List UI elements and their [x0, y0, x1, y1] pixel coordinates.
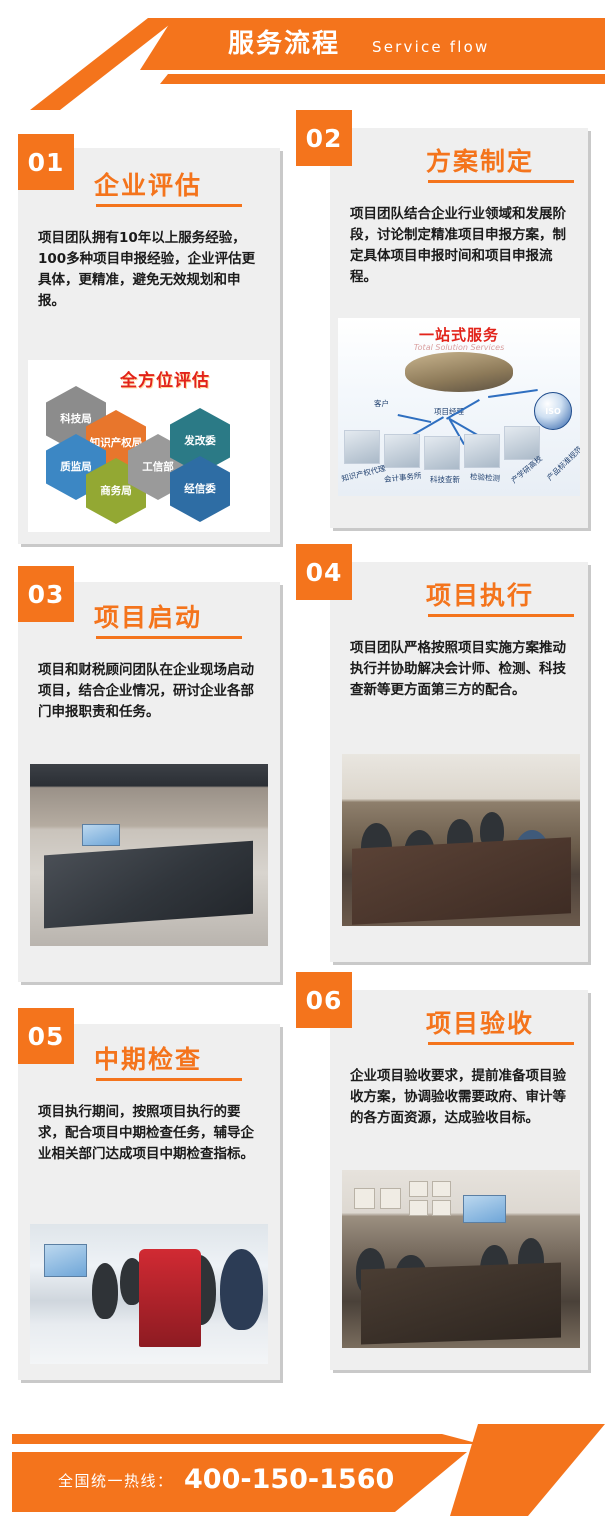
photo-working-meeting [342, 754, 580, 926]
step-visual-04 [342, 754, 580, 926]
step-body-02: 项目团队结合企业行业领域和发展阶段，讨论制定精准项目申报方案，制定具体项目申报时… [350, 204, 572, 288]
step-body-01: 项目团队拥有10年以上服务经验，100多种项目申报经验，企业评估更具体，更精准，… [38, 228, 262, 312]
page-footer: 全国统一热线： 400-150-1560 [0, 1424, 605, 1538]
step-body-04: 项目团队严格按照项目实施方案推动执行并协助解决会计师、检测、科技查新等更方面第三… [350, 638, 572, 701]
step-card-04[interactable]: 04 项目执行 项目团队严格按照项目实施方案推动执行并协助解决会计师、检测、科技… [330, 562, 588, 962]
title-underline [428, 614, 574, 617]
step-title-04: 项目执行 [426, 576, 534, 612]
step-badge-01: 01 [18, 134, 74, 190]
flow-diagram-subtitle: Total Solution Services [414, 343, 504, 352]
flow-label-accounting: 会计事务所 [384, 470, 422, 485]
page-subtitle: Service flow [372, 36, 490, 58]
step-body-03: 项目和财税顾问团队在企业现场启动项目，结合企业情况，研讨企业各部门申报职责和任务… [38, 660, 262, 723]
step-title-06: 项目验收 [426, 1004, 534, 1040]
hotline-label: 全国统一热线： [58, 1470, 174, 1491]
photo-acceptance-meeting [342, 1170, 580, 1348]
page-title: 服务流程 [228, 27, 340, 61]
flow-label-tech-search: 科技查新 [430, 474, 460, 485]
flow-hub-photo [405, 352, 513, 392]
one-stop-service-diagram: 一站式服务 Total Solution Services 客户 项目经理 IS… [338, 318, 580, 496]
step-card-01[interactable]: 01 企业评估 项目团队拥有10年以上服务经验，100多种项目申报经验，企业评估… [18, 148, 280, 544]
step-card-06[interactable]: 06 项目验收 企业项目验收要求，提前准备项目验收方案，协调验收需要政府、审计等… [330, 990, 588, 1370]
step-title-03: 项目启动 [94, 598, 202, 634]
flow-label-inspection: 检验检测 [470, 471, 501, 484]
step-body-05: 项目执行期间，按照项目执行的要求，配合项目中期检查任务，辅导企业相关部门达成项目… [38, 1102, 262, 1165]
step-card-02[interactable]: 02 方案制定 项目团队结合企业行业领域和发展阶段，讨论制定精准项目申报方案，制… [330, 128, 588, 528]
hotline-number[interactable]: 400-150-1560 [184, 1464, 394, 1495]
flow-node-2 [384, 434, 420, 468]
flow-arrow-6 [488, 389, 538, 398]
photo-conference-room [30, 764, 268, 946]
flow-node-4 [464, 434, 500, 468]
flow-node-1 [344, 430, 380, 464]
flow-label-customer: 客户 [374, 398, 389, 409]
hex-diagram: 全方位评估 科技局 知识产权局 质监局 商务局 工信部 发改委 经信委 [28, 360, 270, 532]
service-flow-infographic: 服务流程 Service flow 01 企业评估 项目团队拥有10年以上服务经… [0, 0, 605, 1538]
step-card-05[interactable]: 05 中期检查 项目执行期间，按照项目执行的要求，配合项目中期检查任务，辅导企业… [18, 1024, 280, 1380]
step-visual-03 [30, 764, 268, 946]
step-badge-03: 03 [18, 566, 74, 622]
step-badge-02: 02 [296, 110, 352, 166]
step-badge-04: 04 [296, 544, 352, 600]
flow-label-ip-agency: 知识产权代理 [340, 463, 386, 485]
title-underline [96, 636, 242, 639]
step-body-06: 企业项目验收要求，提前准备项目验收方案，协调验收需要政府、审计等的各方面资源，达… [350, 1066, 572, 1129]
flow-label-product-standard: 产品标准规范 [544, 444, 580, 483]
flow-arrow-1 [398, 414, 432, 423]
flow-diagram-title: 一站式服务 [419, 324, 499, 345]
title-underline [96, 1078, 242, 1081]
step-visual-06 [342, 1170, 580, 1348]
step-title-05: 中期检查 [94, 1040, 202, 1076]
step-title-01: 企业评估 [94, 166, 202, 202]
title-underline [428, 1042, 574, 1045]
step-badge-06: 06 [296, 972, 352, 1028]
step-badge-05: 05 [18, 1008, 74, 1064]
photo-showroom-visit [30, 1224, 268, 1364]
title-underline [428, 180, 574, 183]
step-visual-02: 一站式服务 Total Solution Services 客户 项目经理 IS… [338, 318, 580, 496]
title-underline [96, 204, 242, 207]
hex-diagram-heading: 全方位评估 [120, 366, 210, 391]
step-title-02: 方案制定 [426, 142, 534, 178]
flow-node-3 [424, 436, 460, 470]
page-header: 服务流程 Service flow [0, 0, 605, 100]
step-visual-05 [30, 1224, 268, 1364]
step-card-03[interactable]: 03 项目启动 项目和财税顾问团队在企业现场启动项目，结合企业情况，研讨企业各部… [18, 582, 280, 982]
iso-seal-icon: ISO [534, 392, 572, 430]
